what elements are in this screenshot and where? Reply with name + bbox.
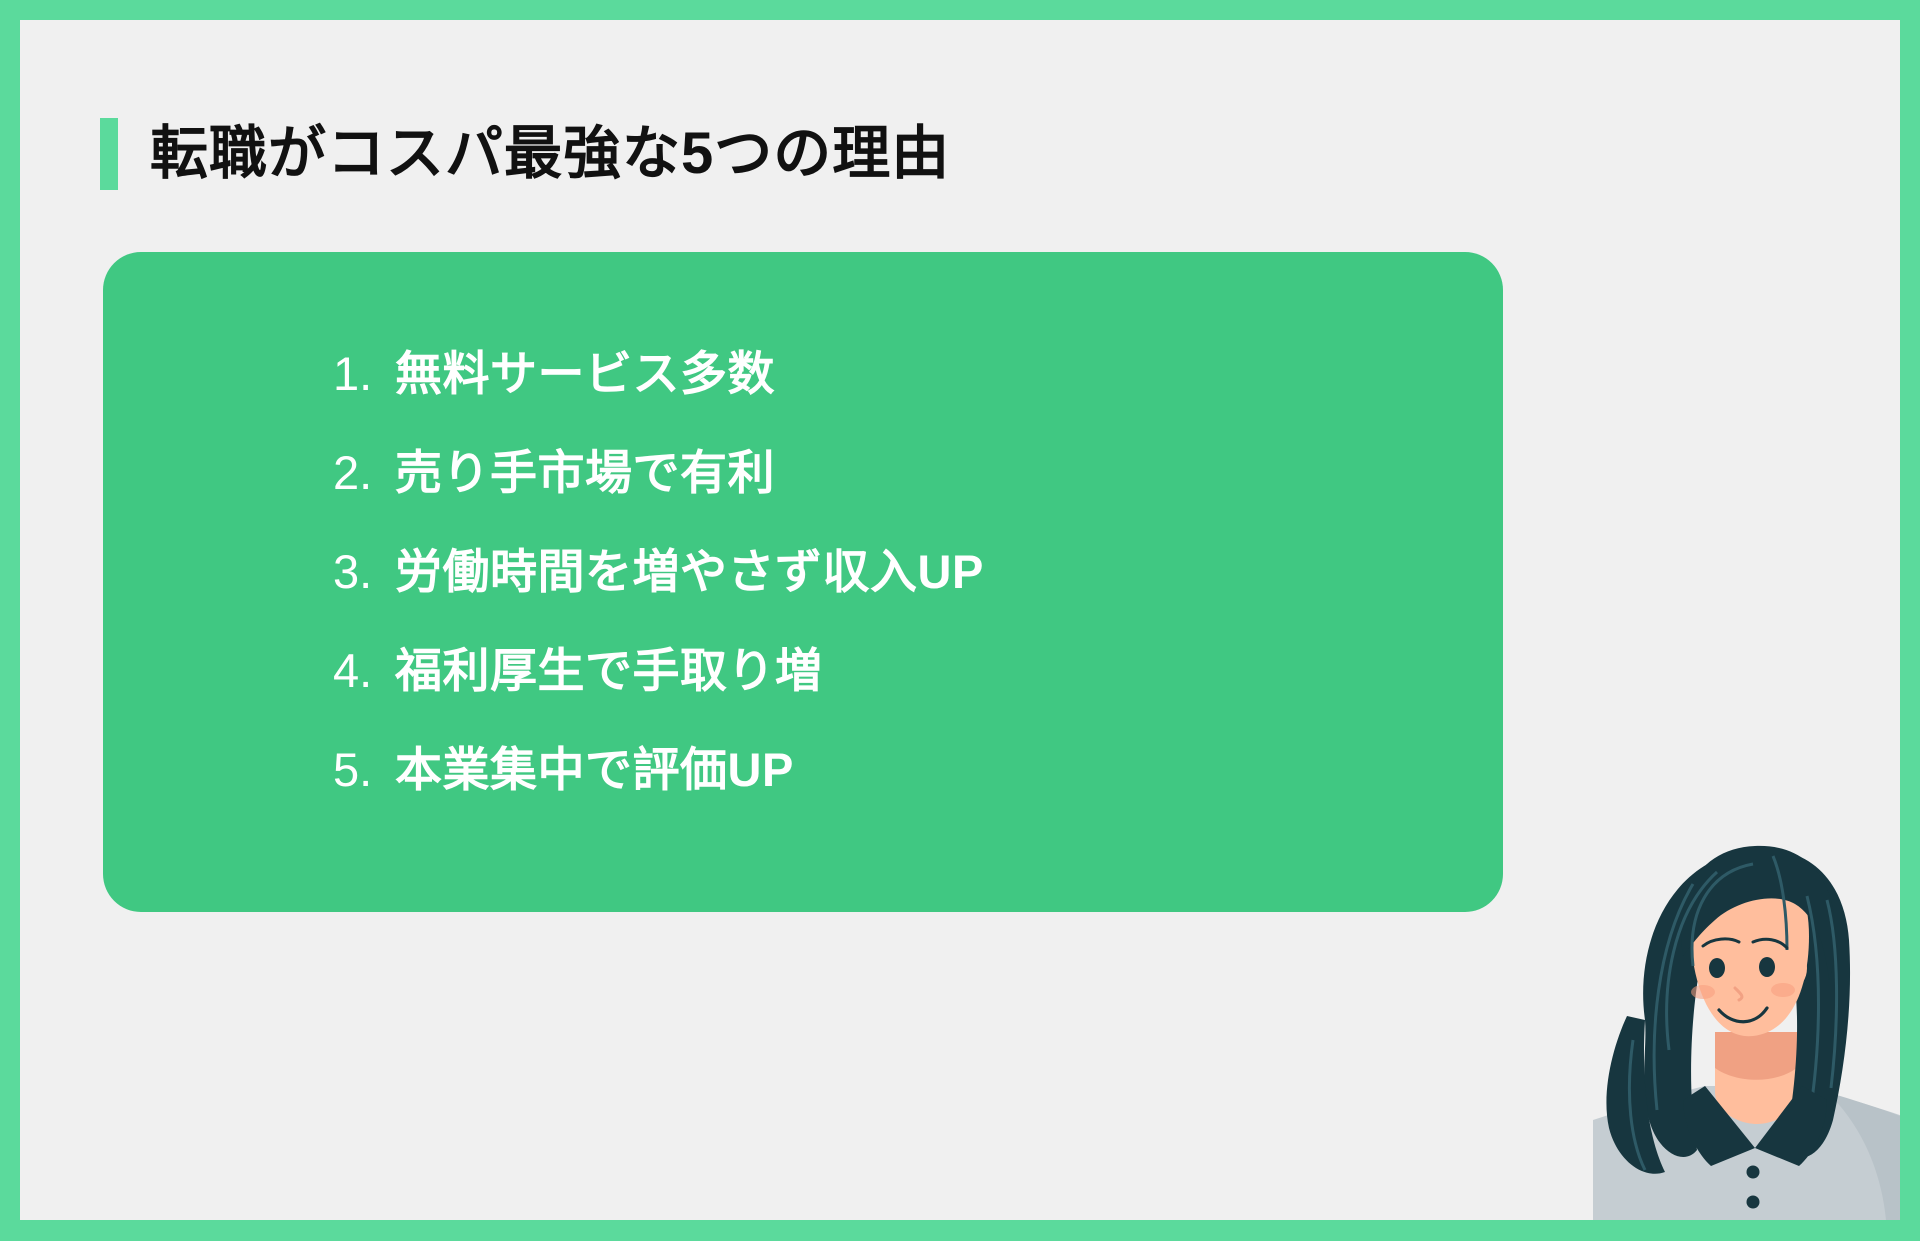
list-item-number: 5.: [333, 746, 395, 793]
slide-root: 転職がコスパ最強な5つの理由 1. 無料サービス多数 2. 売り手市場で有利 3…: [0, 0, 1920, 1241]
blush-left: [1691, 985, 1715, 999]
page-title: 転職がコスパ最強な5つの理由: [150, 125, 950, 183]
eye-right: [1759, 957, 1775, 977]
list-item-number: 4.: [333, 647, 395, 694]
list-item: 4. 福利厚生で手取り増: [333, 647, 984, 694]
blush-right: [1771, 983, 1795, 997]
list-item-label: 本業集中で評価UP: [395, 746, 794, 793]
list-item-label: 福利厚生で手取り増: [395, 647, 823, 694]
list-item-label: 労働時間を増やさず収入UP: [395, 548, 984, 595]
shirt-button: [1747, 1166, 1760, 1179]
page-title-row: 転職がコスパ最強な5つの理由: [100, 118, 950, 190]
slide-inner-panel: 転職がコスパ最強な5つの理由 1. 無料サービス多数 2. 売り手市場で有利 3…: [20, 20, 1900, 1220]
shirt-button: [1747, 1196, 1760, 1209]
list-item: 1. 無料サービス多数: [333, 350, 984, 397]
list-item: 5. 本業集中で評価UP: [333, 746, 984, 793]
list-item-number: 2.: [333, 449, 395, 496]
list-item: 3. 労働時間を増やさず収入UP: [333, 548, 984, 595]
neck-shadow: [1715, 1032, 1799, 1080]
list-item-label: 売り手市場で有利: [395, 449, 775, 496]
reasons-card: 1. 無料サービス多数 2. 売り手市場で有利 3. 労働時間を増やさず収入UP…: [103, 252, 1503, 912]
eye-left: [1709, 958, 1725, 978]
list-item-number: 3.: [333, 548, 395, 595]
reasons-list: 1. 無料サービス多数 2. 売り手市場で有利 3. 労働時間を増やさず収入UP…: [333, 350, 984, 793]
list-item: 2. 売り手市場で有利: [333, 449, 984, 496]
title-accent-bar: [100, 118, 118, 190]
list-item-label: 無料サービス多数: [395, 350, 775, 397]
list-item-number: 1.: [333, 350, 395, 397]
woman-illustration: [1587, 820, 1900, 1220]
